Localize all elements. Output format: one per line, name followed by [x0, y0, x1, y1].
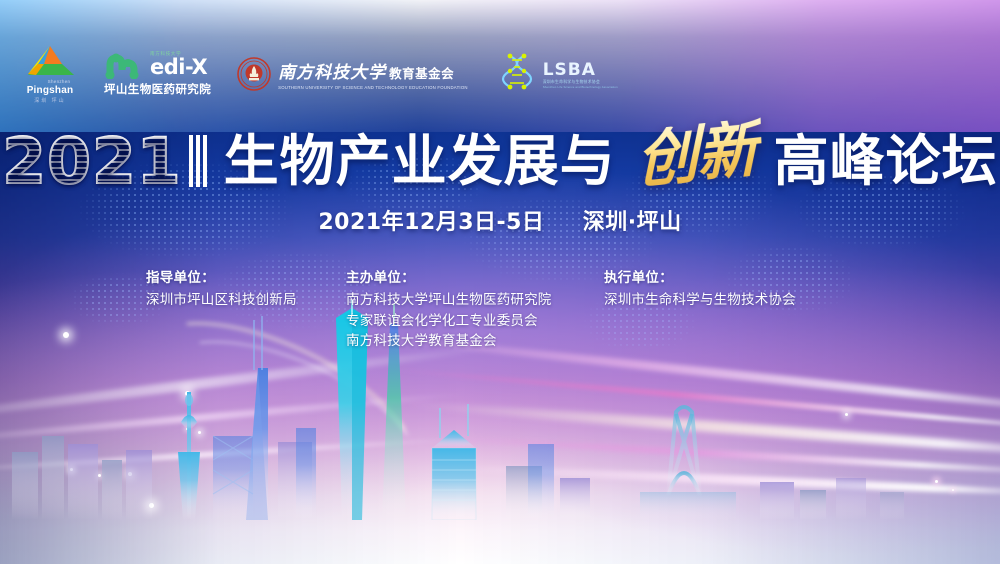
lsba-wordmark: LSBA: [543, 60, 618, 80]
sustech-cn-name: 南方科技大学: [278, 58, 386, 83]
main-title: 2021 生物产业发展与 创新 高峰论坛: [0, 118, 1000, 204]
mid-slab-towers: [278, 428, 316, 520]
pingshan-name-en: Pingshan: [27, 85, 74, 96]
lsba-association-logo: LSBA 深圳市生命科学与生物技术协会 Shenzhen Life Scienc…: [494, 53, 618, 95]
event-location: 深圳·坪山: [583, 210, 682, 235]
pingshan-name-cn: 深圳 坪山: [34, 97, 65, 104]
medix-wordmark: edi-X: [150, 58, 207, 77]
medix-institute-name: 坪山生物医药研究院: [104, 81, 211, 97]
stepped-tower: [432, 404, 476, 520]
medix-institute-logo: 南方科技大学 edi-X 坪山生物医药研究院: [104, 51, 211, 96]
org-host-role: 主办单位：: [346, 266, 604, 286]
org-executor-role: 执行单位：: [604, 266, 864, 286]
tv-tower: [178, 392, 200, 520]
far-right-buildings: [760, 478, 904, 520]
pingshan-mountain-icon: [22, 44, 78, 78]
org-executor-item: 深圳市生命科学与生物技术协会: [604, 290, 864, 311]
org-guidance: 指导单位： 深圳市坪山区科技创新局: [136, 266, 346, 352]
office-towers-right: [506, 444, 590, 520]
org-executor: 执行单位： 深圳市生命科学与生物技术协会: [604, 266, 864, 352]
date-location-line: 2021年12月3日-5日 深圳·坪山: [0, 204, 1000, 236]
org-host-item: 南方科技大学坪山生物医药研究院: [346, 290, 604, 311]
title-main-after: 高峰论坛: [774, 134, 998, 189]
org-host-item: 南方科技大学教育基金会: [346, 331, 604, 352]
lsba-en-name: Shenzhen Life Science and Biotechnology …: [543, 85, 618, 89]
sustech-education-foundation-logo: 南方科技大学 教育基金会 SOUTHERN UNIVERSITY OF SCIE…: [237, 57, 468, 91]
organizer-columns: 指导单位： 深圳市坪山区科技创新局 主办单位： 南方科技大学坪山生物医药研究院 …: [0, 266, 1000, 352]
sustech-seal-icon: [237, 57, 271, 91]
suspension-bridge: [668, 407, 700, 496]
title-year: 2021: [2, 130, 181, 193]
sustech-en-name: SOUTHERN UNIVERSITY OF SCIENCE AND TECHN…: [278, 85, 468, 90]
dna-helix-icon: [494, 53, 540, 95]
title-highlight: 创新: [631, 117, 762, 193]
org-host-item: 专家联谊会化学化工专业委员会: [346, 311, 604, 332]
pingshan-district-logo: Shenzhen Pingshan 深圳 坪山: [22, 44, 78, 104]
pingshan-sub-en: Shenzhen: [48, 79, 71, 84]
far-left-buildings: [12, 436, 152, 520]
sustech-foundation-cn: 教育基金会: [389, 63, 454, 82]
event-date: 2021年12月3日-5日: [318, 210, 544, 235]
title-main-before: 生物产业发展与: [224, 134, 616, 189]
medix-molecule-icon: [104, 53, 148, 79]
title-divider-bars: [189, 135, 193, 187]
org-guidance-item: 深圳市坪山区科技创新局: [146, 290, 346, 311]
sponsor-logo-bar: Shenzhen Pingshan 深圳 坪山 南方科技大学 edi-X 坪山生…: [22, 44, 618, 104]
conference-poster: Shenzhen Pingshan 深圳 坪山 南方科技大学 edi-X 坪山生…: [0, 0, 1000, 564]
org-guidance-role: 指导单位：: [146, 266, 346, 286]
org-host: 主办单位： 南方科技大学坪山生物医药研究院 专家联谊会化学化工专业委员会 南方科…: [346, 266, 604, 352]
